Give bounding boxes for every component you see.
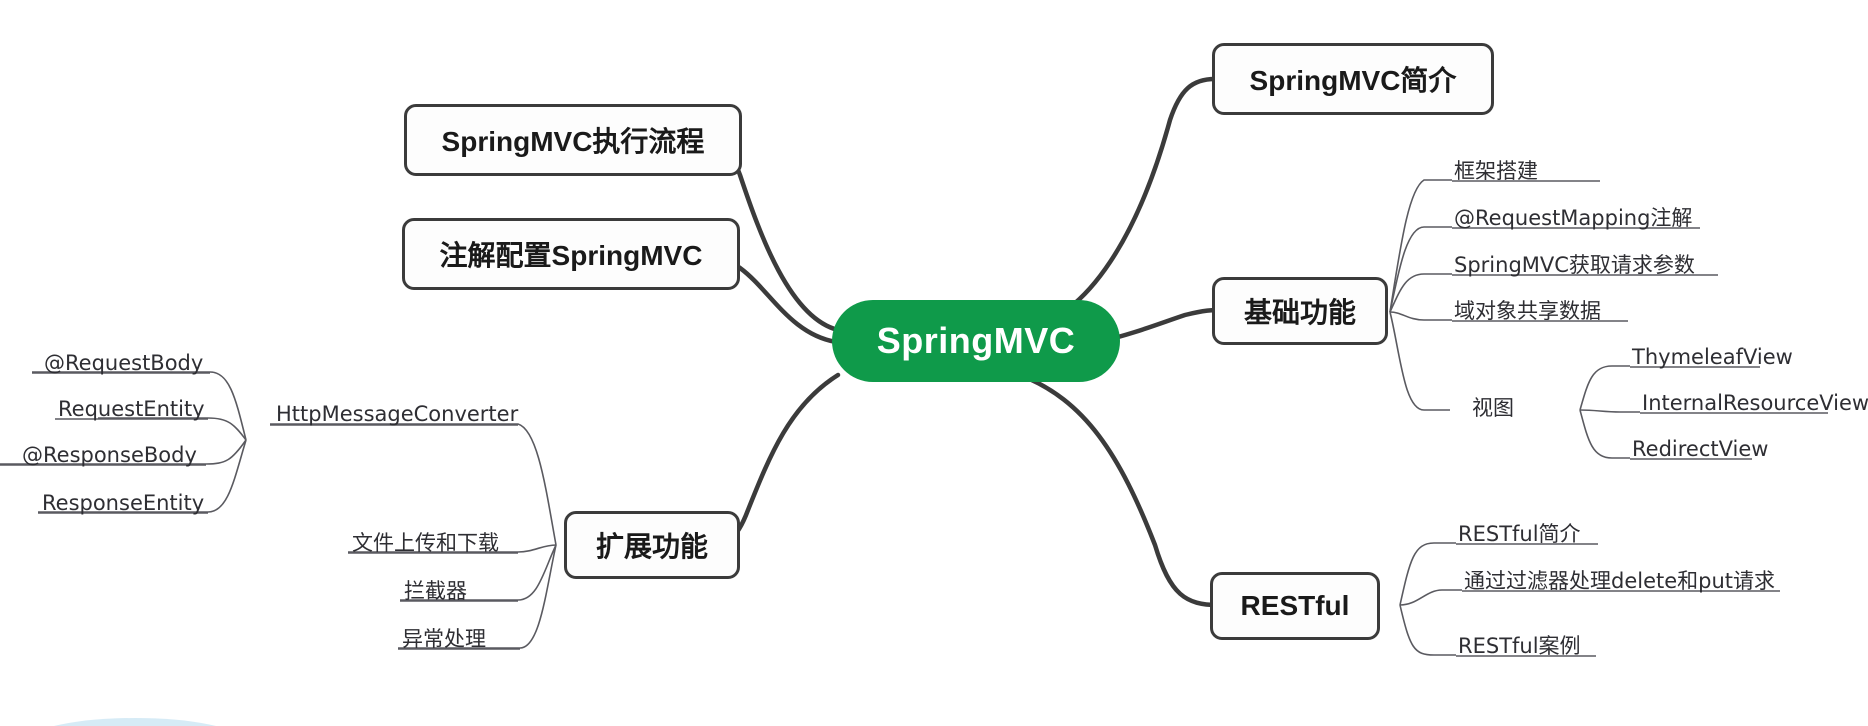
leaf-label-responsebody: @ResponseBody [22, 443, 197, 467]
leaf-label-requestentity: RequestEntity [58, 397, 205, 421]
trunk-to-springmvc-intro [1022, 79, 1215, 330]
branch-node-springmvc-intro[interactable]: SpringMVC简介 [1212, 43, 1494, 115]
twig-view-to-internalresource [1580, 410, 1640, 412]
decorative-blue-arc [30, 718, 240, 726]
twig-restful-to-filter [1400, 590, 1462, 605]
root-node-label: SpringMVC [877, 320, 1076, 362]
branch-label-extended-features: 扩展功能 [596, 525, 708, 565]
leaf-label-framework-setup: 框架搭建 [1454, 159, 1538, 183]
leaf-responseentity[interactable]: ResponseEntity [42, 493, 204, 514]
leaf-redirectview[interactable]: RedirectView [1632, 439, 1768, 460]
branch-label-springmvc-intro: SpringMVC简介 [1250, 59, 1457, 99]
leaf-framework-setup[interactable]: 框架搭建 [1454, 161, 1538, 182]
leaf-label-requestbody: @RequestBody [44, 351, 203, 375]
branch-node-basic-features[interactable]: 基础功能 [1212, 277, 1388, 345]
leaf-label-responseentity: ResponseEntity [42, 491, 204, 515]
branch-label-restful: RESTful [1241, 590, 1350, 622]
twig-view-to-redirect [1580, 410, 1630, 458]
branch-node-annotation-config[interactable]: 注解配置SpringMVC [402, 218, 740, 290]
leaf-label-redirectview: RedirectView [1632, 437, 1768, 461]
twig-ext-to-httpmessageconverter [270, 424, 556, 545]
twig-basic-to-scope-data [1390, 312, 1452, 320]
leaf-label-scope-data: 域对象共享数据 [1454, 299, 1601, 323]
leaf-requestbody[interactable]: @RequestBody [44, 353, 203, 374]
leaf-label-restful-intro: RESTful简介 [1458, 522, 1581, 546]
twig-restful-to-case [1400, 605, 1456, 655]
leaf-label-view-hub: 视图 [1472, 396, 1514, 420]
leaf-requestmapping[interactable]: @RequestMapping注解 [1454, 208, 1692, 229]
leaf-requestentity[interactable]: RequestEntity [58, 399, 205, 420]
twig-basic-to-params [1390, 274, 1452, 312]
leaf-thymeleafview[interactable]: ThymeleafView [1632, 347, 1793, 368]
twig-basic-to-view [1390, 312, 1450, 410]
trunk-to-restful [1020, 375, 1218, 605]
leaf-restful-intro[interactable]: RESTful简介 [1458, 524, 1581, 545]
leaf-label-interceptor: 拦截器 [404, 579, 467, 603]
leaf-interceptor[interactable]: 拦截器 [404, 581, 467, 602]
leaf-httpmessageconverter[interactable]: HttpMessageConverter [276, 404, 518, 425]
branch-node-restful[interactable]: RESTful [1210, 572, 1380, 640]
leaf-responsebody[interactable]: @ResponseBody [22, 445, 197, 466]
branch-label-basic-features: 基础功能 [1244, 291, 1356, 331]
leaf-label-httpmessageconverter: HttpMessageConverter [276, 402, 518, 426]
leaf-internalresourceview[interactable]: InternalResourceView [1642, 393, 1868, 414]
branch-label-annotation-config: 注解配置SpringMVC [440, 234, 703, 274]
leaf-exception-handling[interactable]: 异常处理 [402, 629, 486, 650]
leaf-label-upload-download: 文件上传和下载 [352, 531, 499, 555]
leaf-scope-data[interactable]: 域对象共享数据 [1454, 301, 1601, 322]
twig-hmc-to-requestentity [98, 418, 246, 440]
branch-node-execution-flow[interactable]: SpringMVC执行流程 [404, 104, 742, 176]
leaf-label-requestmapping: @RequestMapping注解 [1454, 206, 1692, 230]
twig-view-to-thymeleaf [1580, 366, 1630, 410]
leaf-label-restful-filter: 通过过滤器处理delete和put请求 [1464, 569, 1775, 593]
twig-basic-to-requestmapping [1390, 227, 1452, 312]
leaf-upload-download[interactable]: 文件上传和下载 [352, 533, 499, 554]
root-node-springmvc[interactable]: SpringMVC [832, 300, 1120, 382]
leaf-label-restful-case: RESTful案例 [1458, 634, 1581, 658]
leaf-label-thymeleafview: ThymeleafView [1632, 345, 1793, 369]
leaf-restful-case[interactable]: RESTful案例 [1458, 636, 1581, 657]
leaf-request-params[interactable]: SpringMVC获取请求参数 [1454, 255, 1695, 276]
leaf-label-request-params: SpringMVC获取请求参数 [1454, 253, 1695, 277]
twig-basic-to-framework [1390, 180, 1452, 312]
leaf-label-internalresourceview: InternalResourceView [1642, 391, 1868, 415]
branch-node-extended-features[interactable]: 扩展功能 [564, 511, 740, 579]
leaf-label-exception-handling: 异常处理 [402, 627, 486, 651]
twig-restful-to-intro [1400, 543, 1456, 605]
branch-label-execution-flow: SpringMVC执行流程 [442, 120, 705, 160]
leaf-restful-filter[interactable]: 通过过滤器处理delete和put请求 [1464, 571, 1775, 592]
mindmap-canvas: SpringMVC SpringMVC简介 基础功能 RESTful Sprin… [0, 0, 1868, 726]
leaf-view-hub[interactable]: 视图 [1472, 398, 1514, 419]
